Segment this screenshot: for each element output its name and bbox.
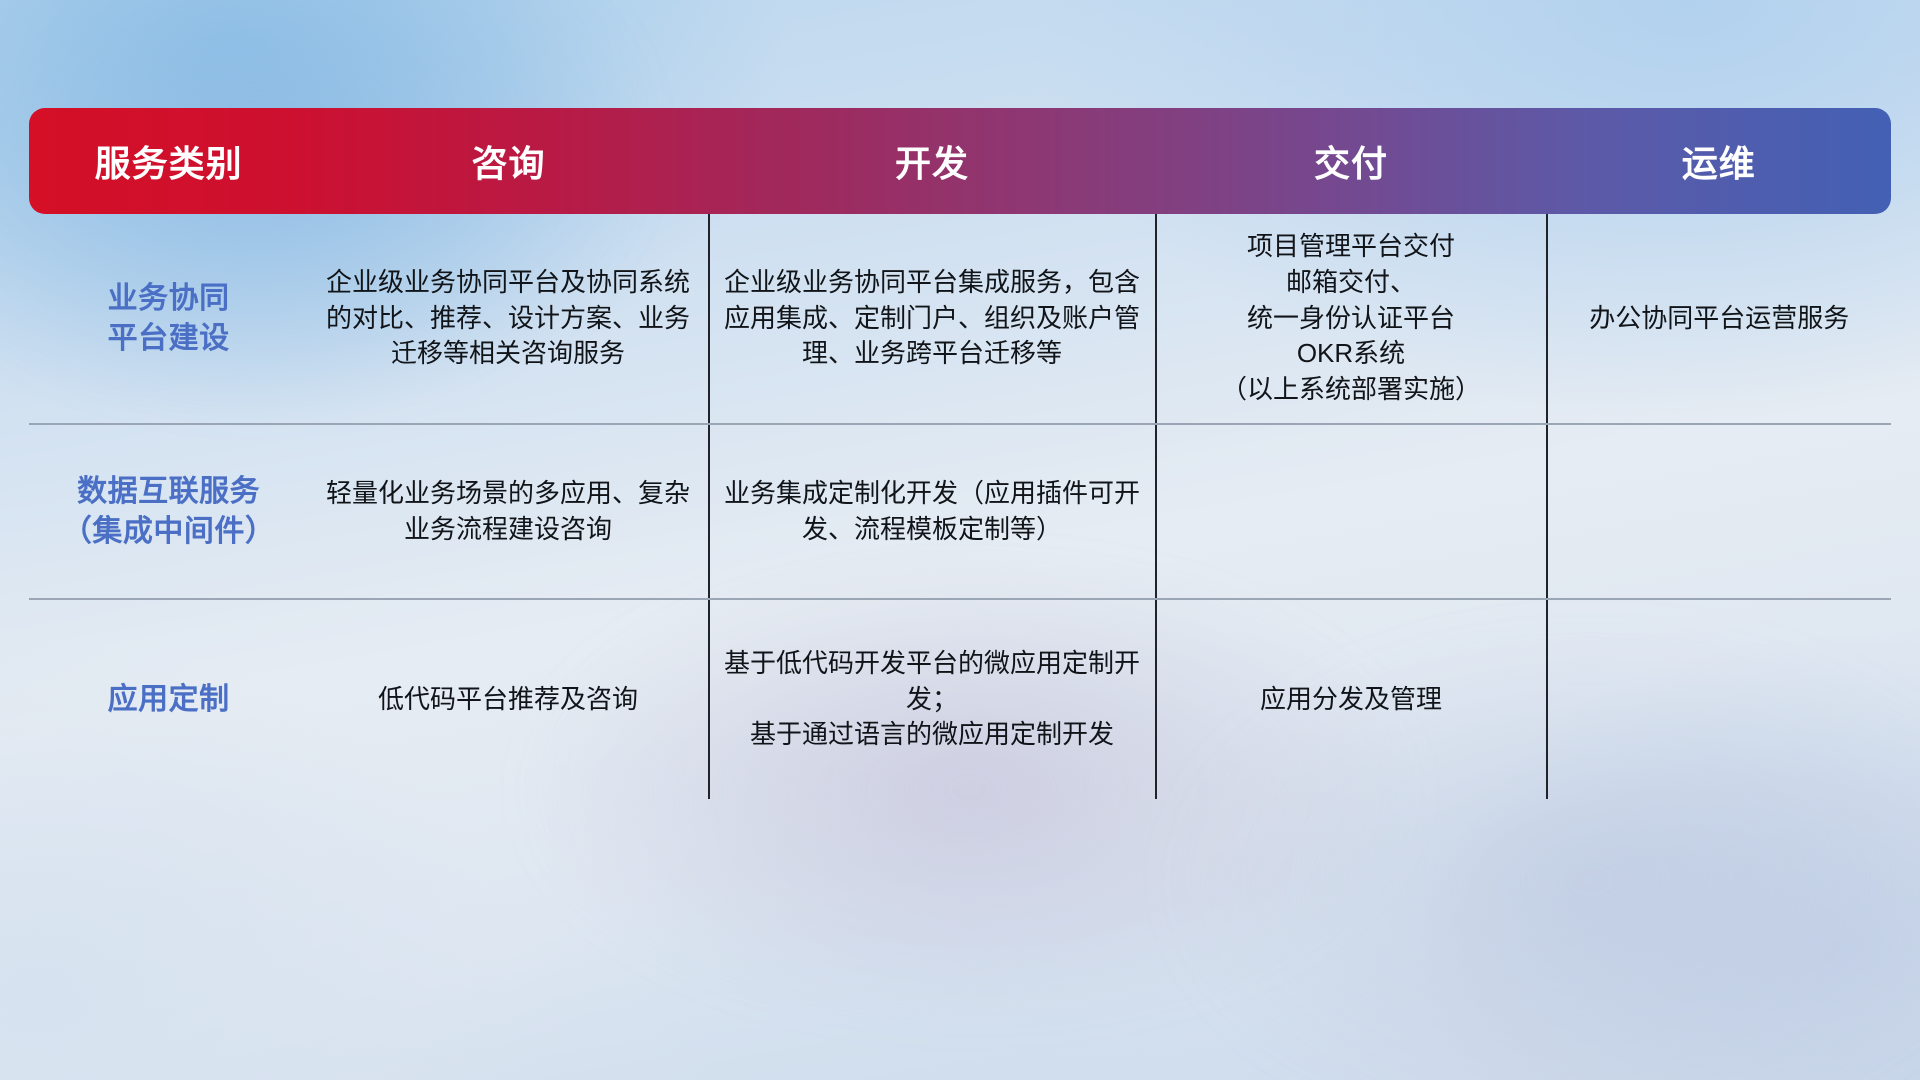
column-header-delivery: 交付: [1156, 108, 1547, 214]
cell-development-row2: 业务集成定制化开发（应用插件可开发、流程模板定制等）: [709, 424, 1156, 599]
cell-delivery-row2: [1156, 424, 1547, 599]
table-row: 应用定制 低代码平台推荐及咨询 基于低代码开发平台的微应用定制开发； 基于通过语…: [29, 599, 1891, 799]
row-label-data-interconnect: 数据互联服务 （集成中间件）: [29, 424, 308, 599]
cell-delivery-row1: 项目管理平台交付 邮箱交付、 统一身份认证平台 OKR系统 （以上系统部署实施）: [1156, 214, 1547, 424]
cell-development-row3: 基于低代码开发平台的微应用定制开发； 基于通过语言的微应用定制开发: [709, 599, 1156, 799]
cell-development-row1: 企业级业务协同平台集成服务，包含应用集成、定制门户、组织及账户管理、业务跨平台迁…: [709, 214, 1156, 424]
cell-line: （以上系统部署实施）: [1171, 372, 1532, 408]
cell-line: 基于通过语言的微应用定制开发: [724, 717, 1141, 753]
row-label-line: 应用定制: [43, 680, 294, 720]
column-header-delivery-label: 交付: [1314, 143, 1388, 184]
table-body: 业务协同 平台建设 企业级业务协同平台及协同系统的对比、推荐、设计方案、业务迁移…: [29, 214, 1891, 799]
row-label-line: 平台建设: [43, 319, 294, 359]
row-label-line: （集成中间件）: [43, 512, 294, 552]
cell-delivery-row3: 应用分发及管理: [1156, 599, 1547, 799]
cell-operations-row2: [1547, 424, 1891, 599]
cell-operations-row1: 办公协同平台运营服务: [1547, 214, 1891, 424]
table-header-row: 服务类别 咨询 开发 交付 运维: [29, 108, 1891, 214]
cell-line: 项目管理平台交付: [1171, 229, 1532, 265]
table-row: 数据互联服务 （集成中间件） 轻量化业务场景的多应用、复杂业务流程建设咨询 业务…: [29, 424, 1891, 599]
row-label-line: 业务协同: [43, 279, 294, 319]
table-row: 业务协同 平台建设 企业级业务协同平台及协同系统的对比、推荐、设计方案、业务迁移…: [29, 214, 1891, 424]
cell-line: 基于低代码开发平台的微应用定制开发；: [724, 646, 1141, 718]
service-matrix-table: 服务类别 咨询 开发 交付 运维 业务协同 平台建: [29, 108, 1891, 799]
column-header-category: 服务类别: [29, 108, 308, 214]
column-header-operations-label: 运维: [1682, 143, 1756, 184]
column-header-consulting: 咨询: [308, 108, 708, 214]
column-header-consulting-label: 咨询: [471, 143, 545, 184]
cell-consulting-row3: 低代码平台推荐及咨询: [308, 599, 708, 799]
column-header-development-label: 开发: [895, 143, 969, 184]
cell-consulting-row1: 企业级业务协同平台及协同系统的对比、推荐、设计方案、业务迁移等相关咨询服务: [308, 214, 708, 424]
service-matrix-table-container: 服务类别 咨询 开发 交付 运维 业务协同 平台建: [29, 108, 1891, 799]
row-label-line: 数据互联服务: [43, 472, 294, 512]
column-header-operations: 运维: [1547, 108, 1891, 214]
cell-operations-row3: [1547, 599, 1891, 799]
cell-line: 邮箱交付、: [1171, 265, 1532, 301]
cell-line: OKR系统: [1171, 336, 1532, 372]
table-header: 服务类别 咨询 开发 交付 运维: [29, 108, 1891, 214]
row-label-business-collaboration: 业务协同 平台建设: [29, 214, 308, 424]
cell-line: 统一身份认证平台: [1171, 301, 1532, 337]
cell-consulting-row2: 轻量化业务场景的多应用、复杂业务流程建设咨询: [308, 424, 708, 599]
column-header-category-label: 服务类别: [95, 143, 243, 184]
row-label-application-customization: 应用定制: [29, 599, 308, 799]
column-header-development: 开发: [709, 108, 1156, 214]
